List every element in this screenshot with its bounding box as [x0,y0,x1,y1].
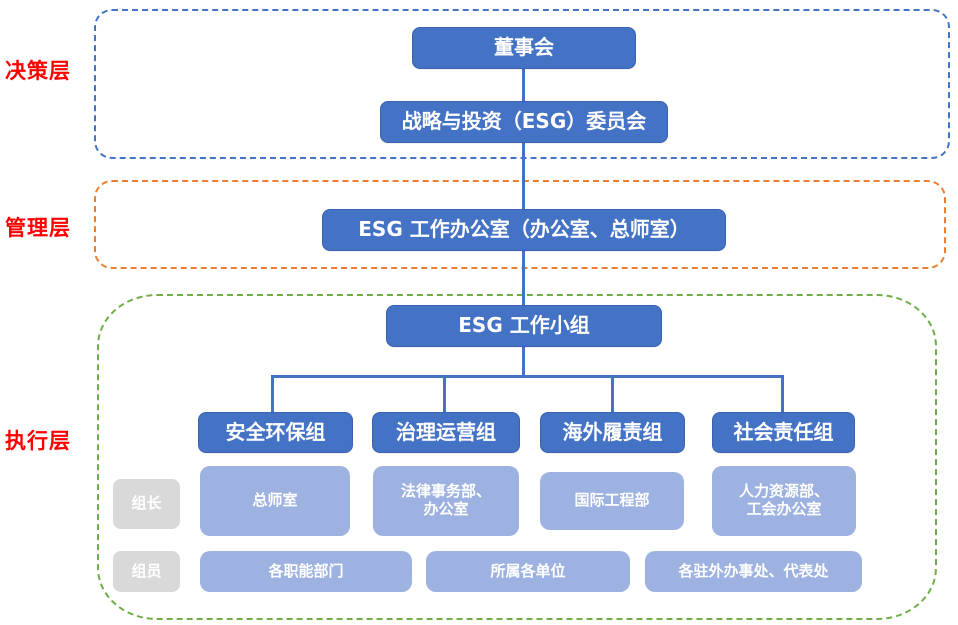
node-leader-text-2-line2: 办公室 [401,501,491,519]
node-esg-working-group[interactable]: ESG 工作小组 [386,305,662,347]
node-leader-text-2: 法律事务部、 办公室 [401,483,491,518]
connector-drop-group-1 [271,375,274,413]
node-leader-text-4: 人力资源部、 工会办公室 [739,483,829,518]
row-label-leader: 组长 [113,479,180,529]
node-leader-governance-operations[interactable]: 法律事务部、 办公室 [373,466,519,536]
node-board-of-directors[interactable]: 董事会 [412,27,636,69]
node-leader-text-3: 国际工程部 [574,492,649,510]
node-leader-text-1: 总师室 [252,492,297,510]
node-member-functional-departments[interactable]: 各职能部门 [200,551,412,592]
connector-committee-to-office [522,142,525,210]
connector-drop-group-4 [781,375,784,413]
node-leader-text-4-line2: 工会办公室 [739,501,829,519]
layer-label-execution: 执行层 [5,425,71,455]
layer-label-decision: 决策层 [5,55,71,85]
layer-label-management: 管理层 [5,212,71,242]
node-member-overseas-offices[interactable]: 各驻外办事处、代表处 [645,551,862,592]
connector-horizontal-bus [271,375,784,378]
connector-group-to-bus [522,346,525,377]
node-group-governance-operations[interactable]: 治理运营组 [372,412,520,453]
connector-drop-group-3 [611,375,614,413]
node-leader-text-4-line1: 人力资源部、 [739,483,829,501]
node-group-social-responsibility[interactable]: 社会责任组 [712,412,855,453]
connector-board-to-committee [522,68,525,102]
node-leader-safety-environment[interactable]: 总师室 [200,466,350,536]
org-chart-canvas: 决策层 管理层 执行层 董事会 战略与投资（ESG）委员会 ESG 工作办公室（… [0,0,958,625]
node-leader-text-2-line1: 法律事务部、 [401,483,491,501]
connector-drop-group-2 [443,375,446,413]
node-member-affiliated-units[interactable]: 所属各单位 [426,551,630,592]
node-leader-social-responsibility[interactable]: 人力资源部、 工会办公室 [712,466,856,536]
node-leader-overseas-responsibility[interactable]: 国际工程部 [540,472,684,530]
node-group-safety-environment[interactable]: 安全环保组 [198,412,353,453]
connector-office-to-group [522,250,525,306]
node-group-overseas-responsibility[interactable]: 海外履责组 [540,412,685,453]
node-esg-working-office[interactable]: ESG 工作办公室（办公室、总师室） [322,209,726,251]
node-esg-committee[interactable]: 战略与投资（ESG）委员会 [380,101,668,143]
row-label-member: 组员 [113,551,180,592]
